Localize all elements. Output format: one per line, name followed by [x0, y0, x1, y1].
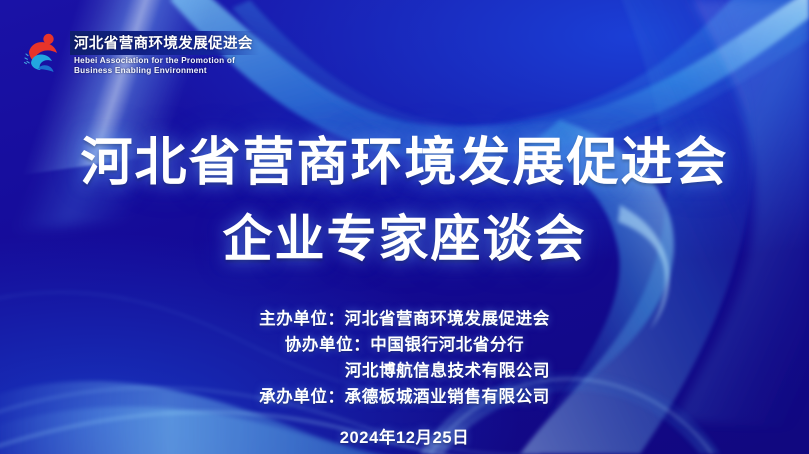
logo-name-en-line1: Hebei Association for the Promotion of — [74, 56, 259, 65]
credit-row-organizer: 主办单位：河北省营商环境发展促进会 — [0, 306, 809, 332]
poster-banner: 河北省营商环境发展促进会 Hebei Association for the P… — [0, 0, 809, 454]
title-line-1: 河北省营商环境发展促进会 — [0, 125, 809, 201]
title-line-2: 企业专家座谈会 — [0, 201, 809, 277]
logo-name-cn: 河北省营商环境发展促进会 — [74, 36, 253, 52]
credits-block: 主办单位：河北省营商环境发展促进会 协办单位：中国银行河北省分行 河北博航信息技… — [0, 306, 809, 448]
logo-text-block: 河北省营商环境发展促进会 Hebei Association for the P… — [70, 31, 259, 75]
event-date: 2024年12月25日 — [0, 424, 809, 448]
credit-row-coorganizer2: 河北博航信息技术有限公司 — [0, 358, 809, 384]
logo-mark-icon — [22, 30, 64, 76]
credit-row-coorganizer: 协办单位：中国银行河北省分行 — [0, 332, 809, 358]
logo-name-en-line2: Business Enabling Environment — [74, 66, 259, 75]
credit-row-host: 承办单位：承德板城酒业销售有限公司 — [0, 384, 809, 410]
poster-title-block: 河北省营商环境发展促进会 企业专家座谈会 — [0, 125, 809, 277]
association-logo: 河北省营商环境发展促进会 Hebei Association for the P… — [22, 30, 259, 76]
logo-name-cn-band: 河北省营商环境发展促进会 — [70, 31, 259, 55]
